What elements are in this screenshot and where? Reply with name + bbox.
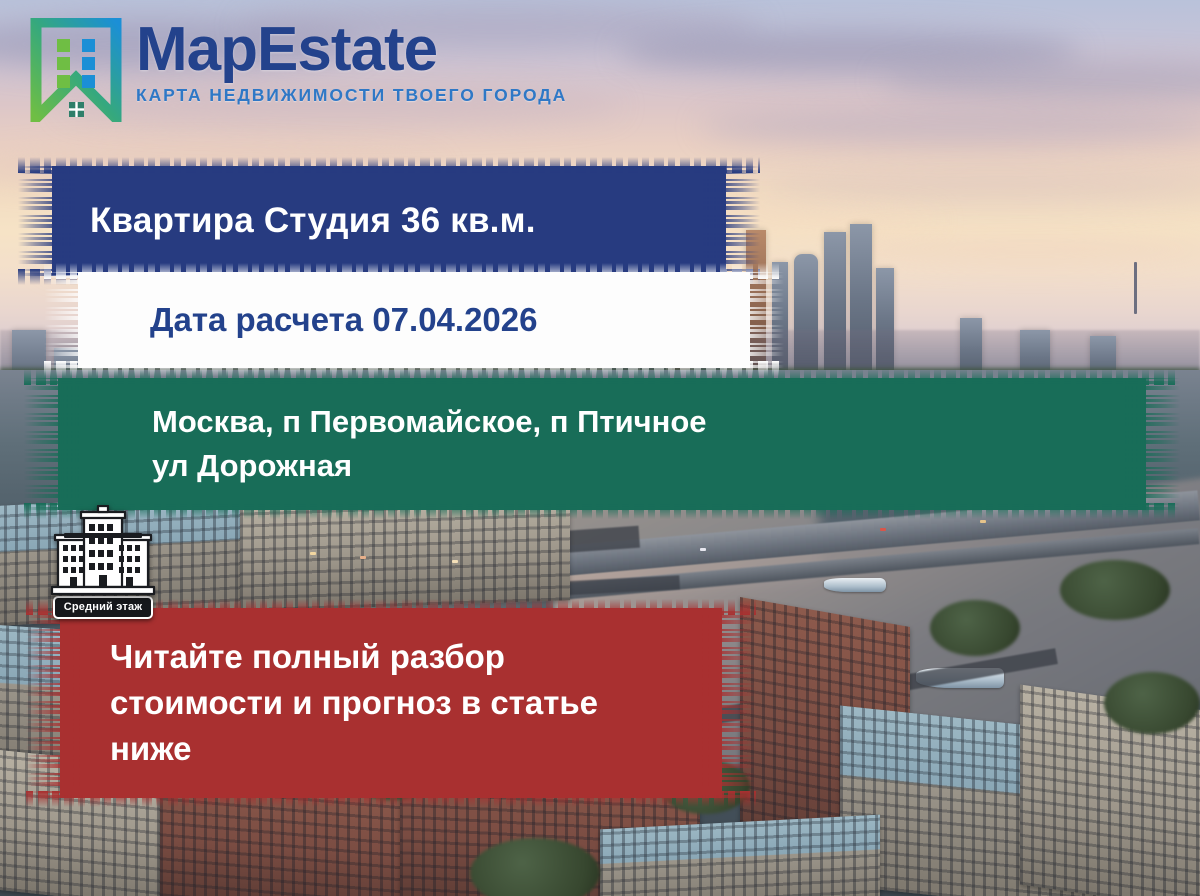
- car-light: [360, 556, 366, 559]
- brand-tagline: КАРТА НЕДВИЖИМОСТИ ТВОЕГО ГОРОДА: [136, 85, 567, 106]
- tree: [1060, 560, 1170, 620]
- address-text: Москва, п Первомайское, п Птичное ул Дор…: [152, 400, 707, 488]
- car-light: [310, 552, 316, 555]
- floor-badge-label: Средний этаж: [53, 596, 154, 619]
- calculation-date-band: Дата расчета 07.04.2026: [44, 272, 784, 368]
- tree: [1104, 672, 1200, 734]
- brand-wordmark: MapEstate: [136, 20, 567, 81]
- address-line-1: Москва, п Первомайское, п Птичное: [152, 400, 707, 444]
- building-skyscraper-icon: [44, 505, 162, 597]
- tree: [930, 600, 1020, 656]
- poster-canvas: MapEstate КАРТА НЕДВИЖИМОСТИ ТВОЕГО ГОРО…: [0, 0, 1200, 896]
- cta-line-3: ниже: [110, 726, 598, 772]
- apartment-block: [600, 815, 880, 896]
- floor-badge: Средний этаж: [44, 505, 162, 619]
- car-light: [700, 548, 706, 551]
- cloud: [700, 108, 1200, 146]
- address-line-2: ул Дорожная: [152, 444, 707, 488]
- address-band: Москва, п Первомайское, п Птичное ул Дор…: [24, 378, 1180, 510]
- antenna: [1134, 262, 1137, 314]
- cta-line-2: стоимости и прогноз в статье: [110, 680, 598, 726]
- cta-line-1: Читайте полный разбор: [110, 634, 598, 680]
- river-boat: [824, 578, 886, 592]
- property-title: Квартира Студия 36 кв.м.: [90, 201, 536, 241]
- cta-band[interactable]: Читайте полный разбор стоимости и прогно…: [26, 608, 756, 798]
- cta-text: Читайте полный разбор стоимости и прогно…: [110, 634, 598, 773]
- brand-logo[interactable]: MapEstate КАРТА НЕДВИЖИМОСТИ ТВОЕГО ГОРО…: [30, 18, 567, 122]
- cloud: [840, 236, 1200, 262]
- car-light: [980, 520, 986, 523]
- car-light: [880, 528, 886, 531]
- property-title-band: Квартира Студия 36 кв.м.: [18, 166, 760, 276]
- car-light: [452, 560, 458, 563]
- calculation-date: Дата расчета 07.04.2026: [150, 301, 537, 339]
- bookmark-building-icon: [30, 18, 122, 122]
